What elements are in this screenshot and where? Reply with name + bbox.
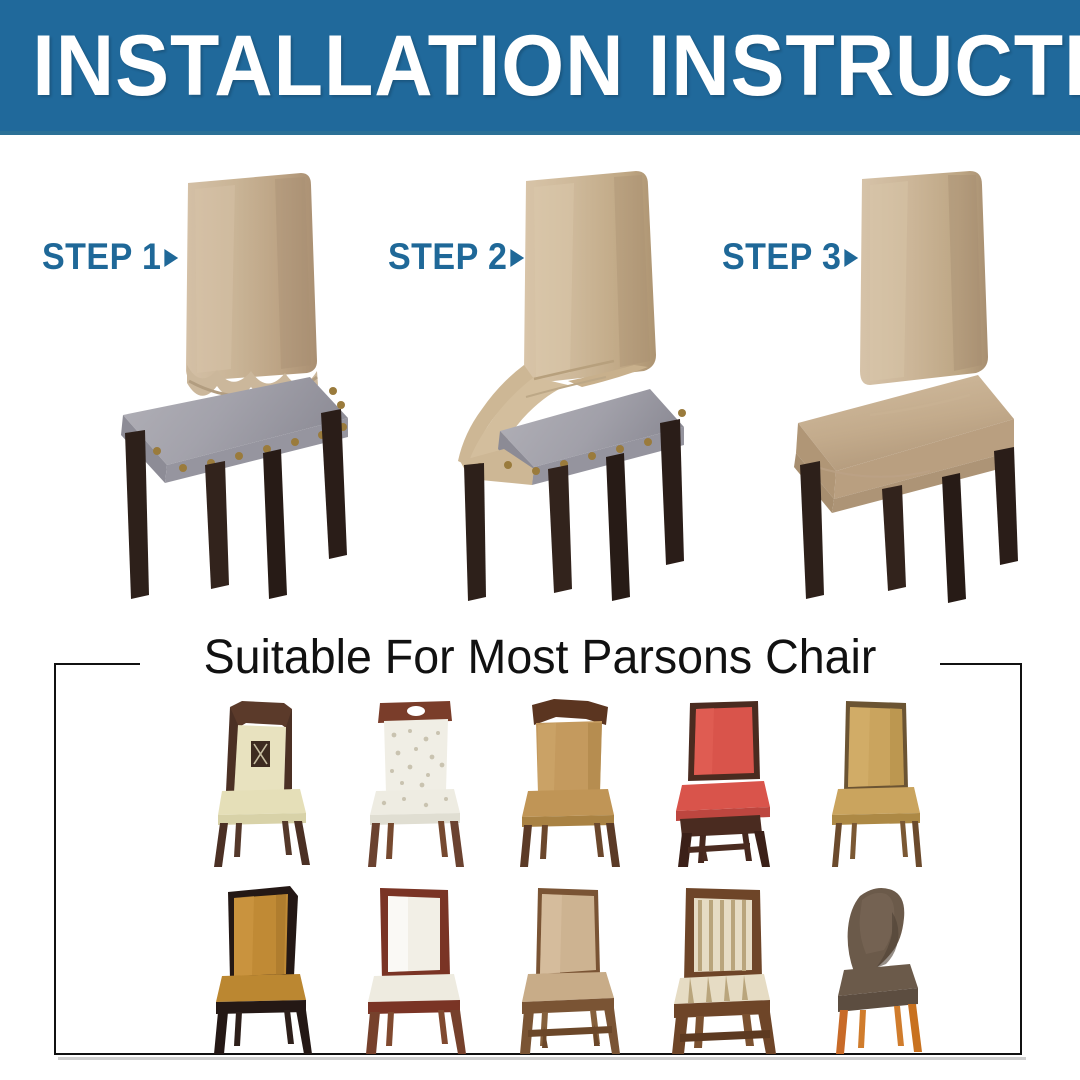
list-item-chair-red-panel	[634, 695, 814, 870]
list-item-chair-brown-wingback	[788, 882, 968, 1057]
chair-step-3-image	[770, 165, 1040, 605]
step-1-label: STEP 1	[42, 238, 178, 275]
chair-step-2-image	[438, 165, 708, 605]
triangle-right-icon	[844, 249, 858, 267]
page-title: INSTALLATION INSTRUCTION	[32, 14, 1047, 118]
suitable-chairs-box-shadow	[58, 1057, 1026, 1060]
triangle-right-icon	[510, 249, 524, 267]
list-item-chair-beige-stretcher	[480, 882, 660, 1057]
list-item-chair-white-cherry	[326, 882, 506, 1057]
gallery-title: Suitable For Most Parsons Chair	[16, 628, 1064, 688]
step-1-text: STEP 1	[42, 236, 161, 277]
list-item-chair-tan-crest	[480, 695, 660, 870]
step-3-text: STEP 3	[722, 236, 841, 277]
list-item-chair-striped	[634, 882, 814, 1057]
list-item-chair-amber-leather	[172, 882, 352, 1057]
step-3-label: STEP 3	[722, 238, 858, 275]
list-item-chair-gold-velvet	[788, 695, 968, 870]
list-item-chair-white-speckle	[326, 695, 506, 870]
step-2-text: STEP 2	[388, 236, 507, 277]
header-banner-underline	[0, 131, 1080, 135]
step-2-label: STEP 2	[388, 238, 524, 275]
triangle-right-icon	[164, 249, 178, 267]
chair-step-1-image	[105, 165, 375, 605]
list-item-chair-cream-medallion	[172, 695, 352, 870]
